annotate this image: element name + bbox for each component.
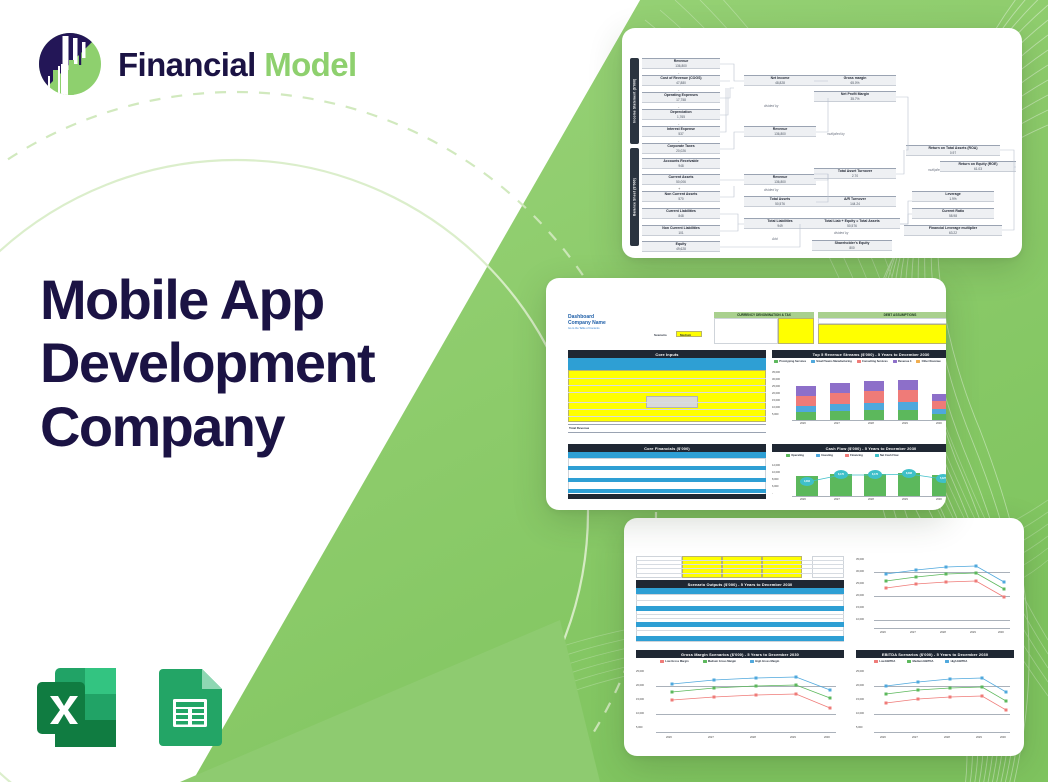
- chart-title-cash-flow: Cash Flow ($'000) - 5 Years to December …: [772, 444, 946, 452]
- legend-item: Revenue 4: [893, 360, 912, 363]
- data-bubble: 8,098: [902, 469, 916, 478]
- poster-stage: Financial Model Mobile App Development C…: [0, 0, 1048, 782]
- chart-title-gross-margin-scenarios: Gross Margin Scenarios ($'000) - 5 Years…: [636, 650, 844, 658]
- scenario-row-contribution-margin: [636, 622, 844, 627]
- data-bubble: 8,170: [834, 470, 848, 479]
- chart-plot-revenue-streams: 35,000 30,000 25,000 20,000 15,000 10,00…: [772, 372, 946, 428]
- legend-item: Investing: [816, 454, 833, 457]
- scenario-sheet: Scenario Outputs ($'000) - 5 Years to De…: [624, 518, 1024, 756]
- brand-wordmark: Financial Model: [118, 48, 357, 81]
- dupont-sheet: Income Statement ($'000) Balance Sheet (…: [622, 28, 1022, 258]
- dupont-connectors: [622, 28, 1022, 258]
- scenario-label: Scenario: [654, 333, 667, 337]
- brand-logo: Financial Model: [36, 30, 357, 98]
- dashboard-sheet: Dashboard Company Name Go to the Table o…: [546, 278, 946, 510]
- dashboard-screenshot[interactable]: Dashboard Company Name Go to the Table o…: [546, 278, 946, 510]
- core-inputs-total-label: Total Revenue: [569, 426, 589, 430]
- data-bubble: 5,027: [936, 474, 946, 483]
- core-financials-cash-row: [568, 494, 766, 499]
- net-cash-flow-line: [772, 464, 946, 504]
- chart-plot-ebitda-scenarios: 25,000 20,000 15,000 10,000 5,000: [856, 670, 1014, 748]
- page-title: Mobile App Development Company: [40, 268, 470, 458]
- scenario-row-gross-margin: [636, 606, 844, 611]
- chart-title-revenue-streams: Top 5 Revenue Streams ($'000) - 5 Years …: [772, 350, 946, 358]
- debt-table-values[interactable]: [818, 324, 946, 344]
- legend-item: Net Cash Flow: [875, 454, 899, 457]
- data-bubble: 4,002: [800, 477, 814, 486]
- dashboard-company-name: Company Name: [568, 320, 606, 326]
- chart-legend-gross-margin: Low Gross Margin Medium Gross Margin Hig…: [660, 660, 844, 663]
- title-line-3: Company: [40, 395, 470, 458]
- format-badges: [33, 664, 233, 751]
- legend-item: Medium EBITDA: [907, 660, 933, 663]
- revenue-scenario-lines: [856, 558, 1014, 642]
- google-sheets-icon: [146, 664, 233, 751]
- left-content-panel: Financial Model Mobile App Development C…: [0, 0, 470, 782]
- core-financials-npat-row: [568, 489, 766, 493]
- legend-item: Medium Gross Margin: [703, 660, 736, 663]
- scenario-outputs-title: Scenario Outputs ($'000) - 5 Years to De…: [636, 580, 844, 588]
- chart-legend-ebitda: Low EBITDA Medium EBITDA High EBITDA: [874, 660, 1014, 663]
- scenario-analysis-screenshot[interactable]: Scenario Outputs ($'000) - 5 Years to De…: [624, 518, 1024, 756]
- chart-legend-cash-flow: Operating Investing Financing Net Cash F…: [786, 454, 946, 457]
- core-inputs-title: Core Inputs: [568, 350, 766, 358]
- scenario-row-ebitda: [636, 636, 844, 641]
- title-line-2: Development: [40, 331, 470, 394]
- legend-item: Financing: [845, 454, 863, 457]
- scenario-value: Medium: [680, 333, 691, 337]
- currency-table: [714, 318, 778, 344]
- chart-plot-gross-margin-scenarios: 25,000 20,000 15,000 10,000 5,000: [636, 670, 844, 748]
- core-financials-ebitda-row: [568, 478, 766, 482]
- legend-item: Low Gross Margin: [660, 660, 689, 663]
- legend-item: Consulting Services: [857, 360, 888, 363]
- dashboard-back-link[interactable]: Go to the Table of Contents: [568, 327, 600, 330]
- chart-legend-revenue-streams: Prototyping Services Small Teams Manufac…: [774, 360, 946, 363]
- chart-plot-cash-flow: 12,000 10,000 8,000 6,000 - 4,002 8,170 …: [772, 464, 946, 504]
- chart-plot-revenue-scenarios: 35,000 30,000 25,000 20,000 15,000 10,00…: [856, 558, 1014, 642]
- legend-item: Other Revenue: [916, 360, 940, 363]
- core-financials-title: Core Financials ($'000): [568, 444, 766, 452]
- brand-name-part2: Model: [264, 46, 356, 83]
- legend-item: High Gross Margin: [750, 660, 779, 663]
- core-financials-gross-margin-row: [568, 466, 766, 470]
- legend-item: Prototyping Services: [774, 360, 806, 363]
- chart-title-ebitda-scenarios: EBITDA Scenarios ($'000) - 5 Years to De…: [856, 650, 1014, 658]
- legend-item: Small Teams Manufacturing: [811, 360, 852, 363]
- brand-name-part1: Financial: [118, 46, 256, 83]
- legend-item: Operating: [786, 454, 804, 457]
- excel-icon: [33, 664, 120, 751]
- dupont-analysis-screenshot[interactable]: Income Statement ($'000) Balance Sheet (…: [622, 28, 1022, 258]
- legend-item: Low EBITDA: [874, 660, 895, 663]
- legend-item: High EBITDA: [945, 660, 967, 663]
- currency-values[interactable]: [778, 318, 814, 344]
- data-bubble: 8,176: [868, 470, 882, 479]
- financial-model-logo-icon: [36, 30, 104, 98]
- title-line-1: Mobile App: [40, 268, 470, 331]
